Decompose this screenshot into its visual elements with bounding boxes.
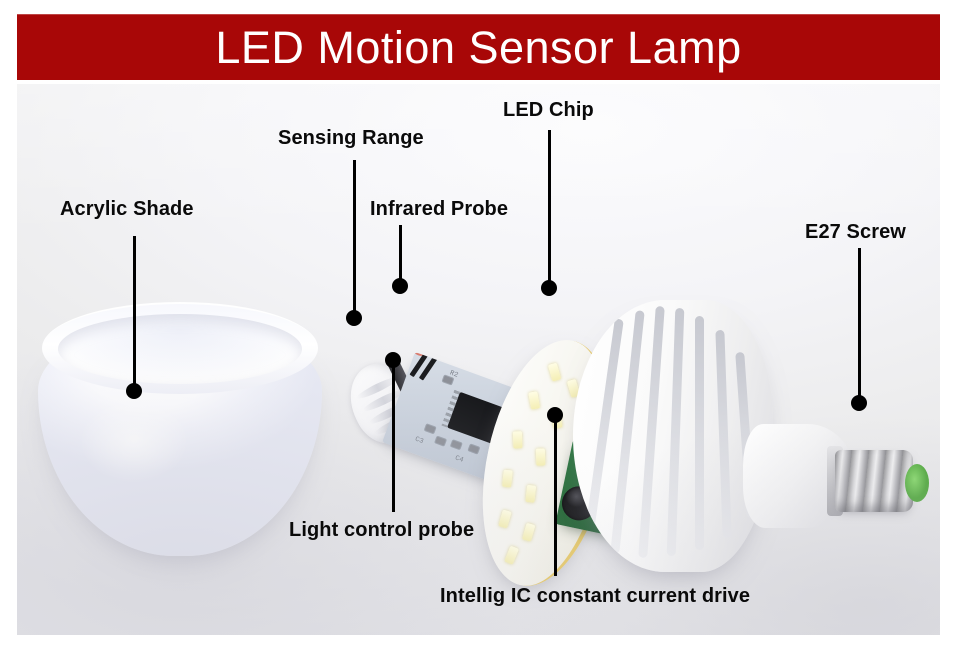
product-photo: R2 R4 D2 C3 C4: [17, 84, 940, 635]
leader-dot-infrared-probe: [392, 278, 408, 294]
heatsink-fin: [667, 308, 685, 556]
leader-dot-sensing-range: [346, 310, 362, 326]
callout-label-e27-screw: E27 Screw: [805, 222, 906, 242]
leader-line-infrared-probe: [399, 225, 402, 283]
leader-dot-light-control-probe: [385, 352, 401, 368]
led-lamp-infographic: LED Motion Sensor Lamp: [0, 0, 960, 650]
smd-component: [435, 437, 446, 446]
leader-line-sensing-range: [353, 160, 356, 314]
shade-rim-inner: [58, 314, 302, 384]
led-chip-component: [525, 485, 536, 503]
heatsink-fin: [638, 306, 665, 558]
leader-dot-led-chip: [541, 280, 557, 296]
leader-line-e27-screw: [858, 248, 861, 400]
callout-label-sensing-range: Sensing Range: [278, 128, 424, 148]
page-title: LED Motion Sensor Lamp: [215, 25, 741, 70]
leader-dot-intellig-ic-constant-current-drive: [547, 407, 563, 423]
bulb-housing-part: [573, 300, 913, 580]
smd-component: [469, 445, 480, 454]
heatsink-fin: [695, 316, 704, 550]
shade-highlight: [74, 398, 224, 518]
acrylic-shade-part: [38, 302, 322, 562]
e27-screw-base: [835, 450, 913, 512]
heatsink-fin: [715, 330, 731, 538]
heatsink-cup: [573, 300, 773, 572]
callout-label-led-chip: LED Chip: [503, 100, 594, 120]
screw-tip-insulator: [905, 464, 929, 502]
led-chip-component: [502, 470, 513, 488]
callout-label-intellig-ic-constant-current-drive: Intellig IC constant current drive: [440, 586, 750, 606]
leader-line-light-control-probe: [392, 364, 395, 512]
led-chip-component: [513, 431, 523, 448]
callout-label-infrared-probe: Infrared Probe: [370, 199, 508, 219]
leader-line-led-chip: [548, 130, 551, 285]
title-banner: LED Motion Sensor Lamp: [17, 14, 940, 80]
callout-label-acrylic-shade: Acrylic Shade: [60, 199, 194, 219]
smd-component: [425, 424, 436, 433]
led-chip-component: [536, 448, 546, 465]
callout-label-light-control-probe: Light control probe: [289, 520, 474, 540]
leader-dot-e27-screw: [851, 395, 867, 411]
leader-line-intellig-ic-constant-current-drive: [554, 419, 557, 576]
leader-dot-acrylic-shade: [126, 383, 142, 399]
smd-component: [451, 440, 462, 449]
leader-line-acrylic-shade: [133, 236, 136, 388]
